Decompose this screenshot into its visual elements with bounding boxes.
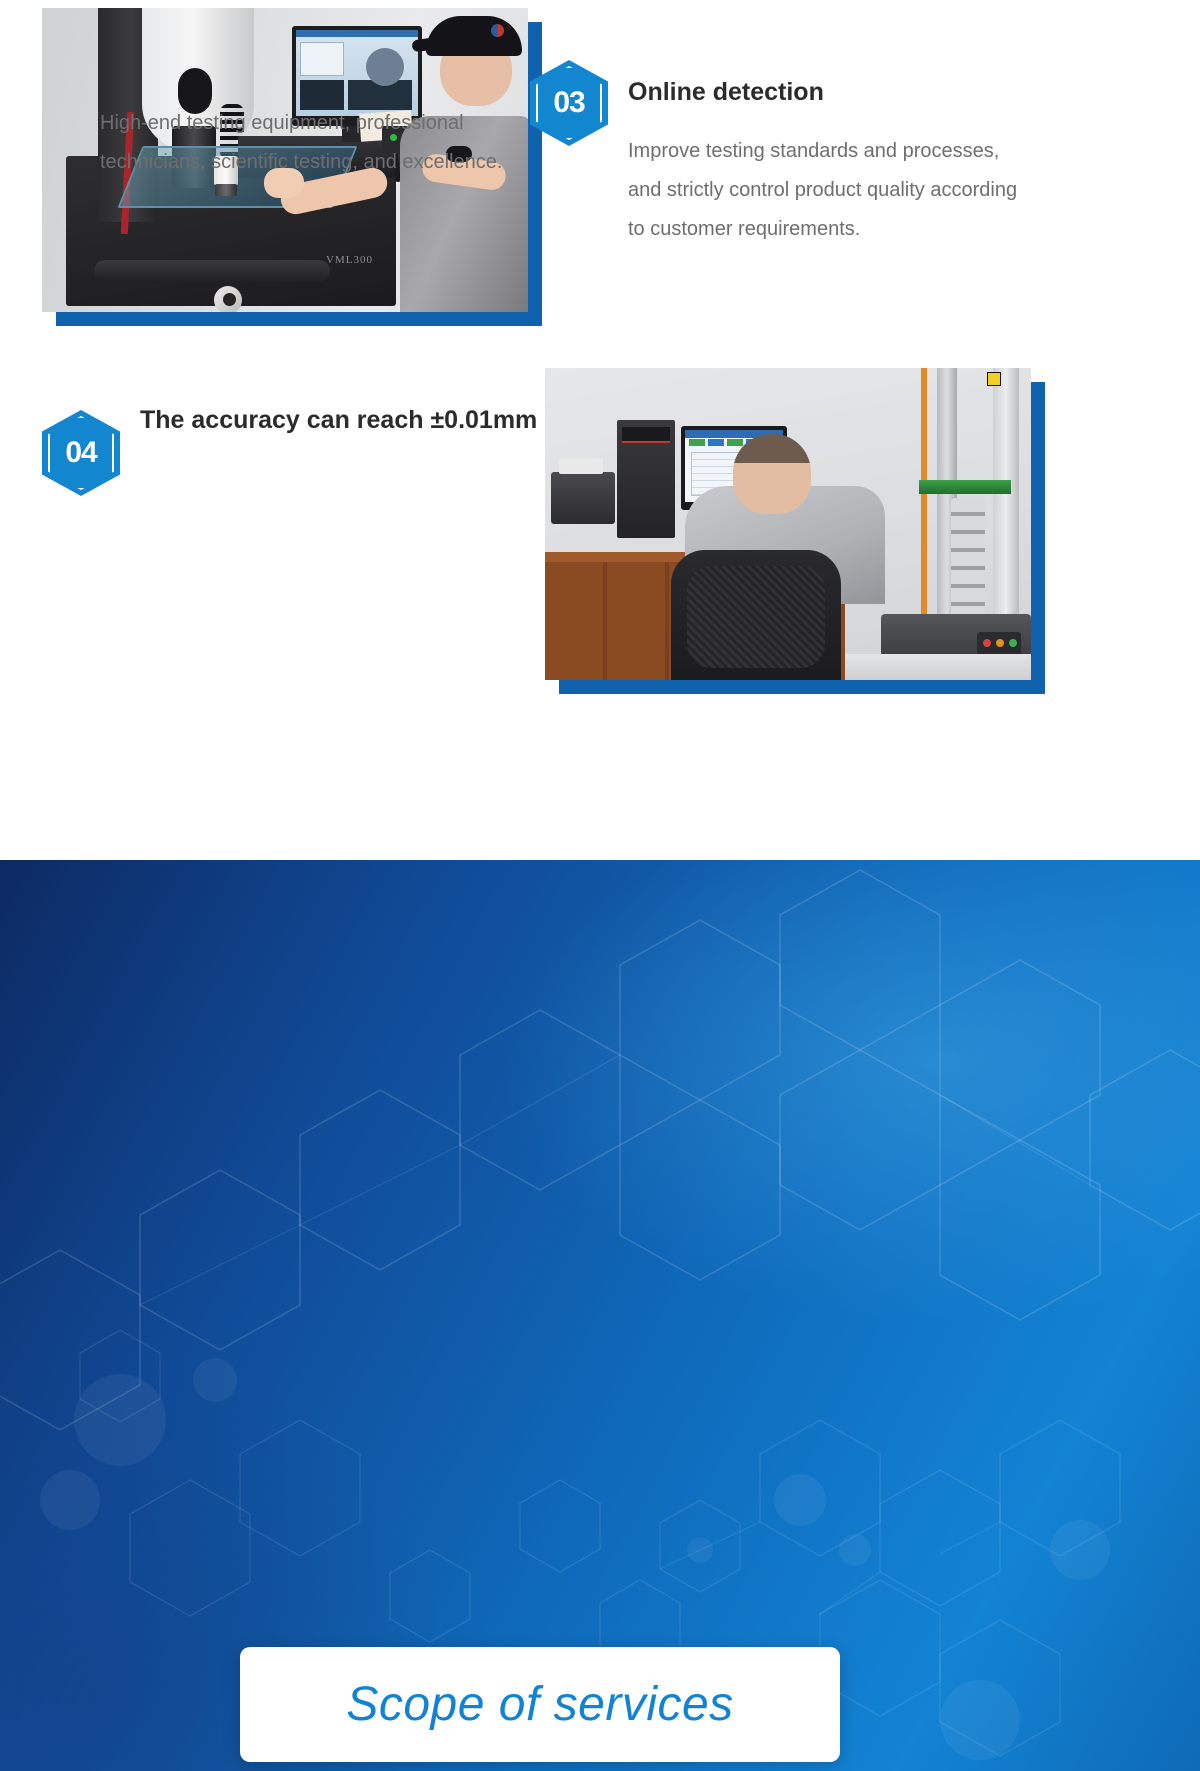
photo-image-testing-lab	[545, 368, 1031, 680]
photo-frame-accent-bottom	[56, 312, 542, 326]
cap-logo-icon	[491, 24, 504, 37]
printer	[551, 472, 615, 524]
scope-of-services-title: Scope of services	[346, 1677, 733, 1732]
stage-knob	[214, 286, 242, 312]
badge-04: 04	[42, 410, 120, 496]
feature-title-03: Online detection	[628, 76, 1028, 110]
badge-03: 03	[530, 60, 608, 146]
top-features-section: VML300 03 Online detection Improve testi…	[0, 0, 1200, 860]
badge-number-label: 04	[42, 410, 120, 496]
panel-indicator-orange	[996, 639, 1004, 647]
screen-titlebar	[296, 30, 418, 37]
screen-measured-circle	[366, 48, 404, 86]
screen-toolbar-button	[708, 439, 724, 446]
badge-number-label: 03	[530, 60, 608, 146]
stage-roller	[94, 260, 330, 282]
scope-of-services-section: Scope of services 01 CNC processing of e…	[0, 860, 1200, 1771]
feature-title-04: The accuracy can reach ±0.01mm	[140, 404, 540, 438]
feature-block-03: Online detection Improve testing standar…	[628, 76, 1028, 249]
hexagon-lattice-decoration	[0, 860, 1200, 1771]
feature-block-04: The accuracy can reach ±0.01mm	[140, 404, 540, 438]
photo-frame-accent-bottom	[559, 680, 1045, 694]
screen-toolbar-button	[689, 439, 705, 446]
photo-accuracy-testing	[545, 368, 1045, 694]
machine-green-crosshead	[919, 480, 1011, 494]
feature-body-03: Improve testing standards and processes,…	[628, 132, 1028, 249]
scope-of-services-banner: Scope of services	[240, 1647, 840, 1762]
photo-frame-accent-right	[1031, 382, 1045, 694]
office-chair	[671, 550, 841, 680]
screen-panel-left	[300, 42, 344, 76]
tensile-grips	[951, 498, 985, 618]
technician-head	[733, 434, 811, 514]
operator-cap	[426, 16, 522, 56]
page-root: VML300 03 Online detection Improve testi…	[0, 0, 1200, 1771]
pc-tower	[617, 420, 675, 538]
panel-indicator-green	[1009, 639, 1017, 647]
machine-model-label: VML300	[326, 254, 373, 266]
feature-body-04: High-end testing equipment, professional…	[100, 104, 540, 182]
panel-indicator-red	[983, 639, 991, 647]
screen-toolbar-button	[727, 439, 743, 446]
machine-control-panel	[977, 632, 1021, 656]
warning-label-icon	[987, 372, 1001, 386]
